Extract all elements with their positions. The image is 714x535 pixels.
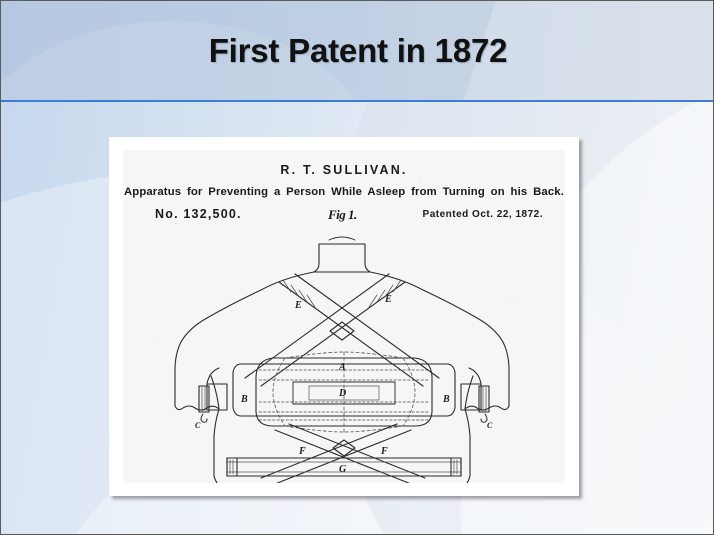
figure-label-G: G — [339, 464, 347, 475]
figure-label-E-left: E — [294, 300, 302, 311]
page-title: First Patent in 1872 — [1, 1, 714, 100]
figure-label-E-right: E — [384, 294, 392, 305]
slide: First Patent in 1872 R. T. SULLIVAN. App… — [0, 0, 714, 535]
patent-inventor-name: R. T. SULLIVAN. — [123, 163, 565, 177]
patent-apparatus-title: Apparatus for Preventing a Person While … — [123, 186, 565, 198]
patent-number: No. 132,500. — [155, 207, 242, 221]
figure-label-F-left: F — [298, 446, 306, 457]
figure-label-D: D — [338, 388, 346, 399]
patent-meta-row: No. 132,500. Fig 1. Patented Oct. 22, 18… — [123, 207, 565, 225]
patent-header-text: R. T. SULLIVAN. Apparatus for Preventing… — [123, 150, 565, 225]
patent-image-frame[interactable]: R. T. SULLIVAN. Apparatus for Preventing… — [109, 137, 579, 496]
patent-date: Patented Oct. 22, 1872. — [423, 209, 543, 220]
figure-label-A: A — [338, 362, 346, 373]
figure-label-B-left: B — [240, 394, 248, 405]
figure-label: Fig 1. — [328, 207, 357, 223]
figure-label-C-left: C — [195, 421, 201, 430]
figure-label-B-right: B — [442, 394, 450, 405]
figure-label-F-right: F — [380, 446, 388, 457]
patent-scan: R. T. SULLIVAN. Apparatus for Preventing… — [123, 150, 565, 483]
patent-figure-drawing: E E A D B B C C F F G — [123, 236, 565, 483]
figure-label-C-right: C — [487, 421, 493, 430]
